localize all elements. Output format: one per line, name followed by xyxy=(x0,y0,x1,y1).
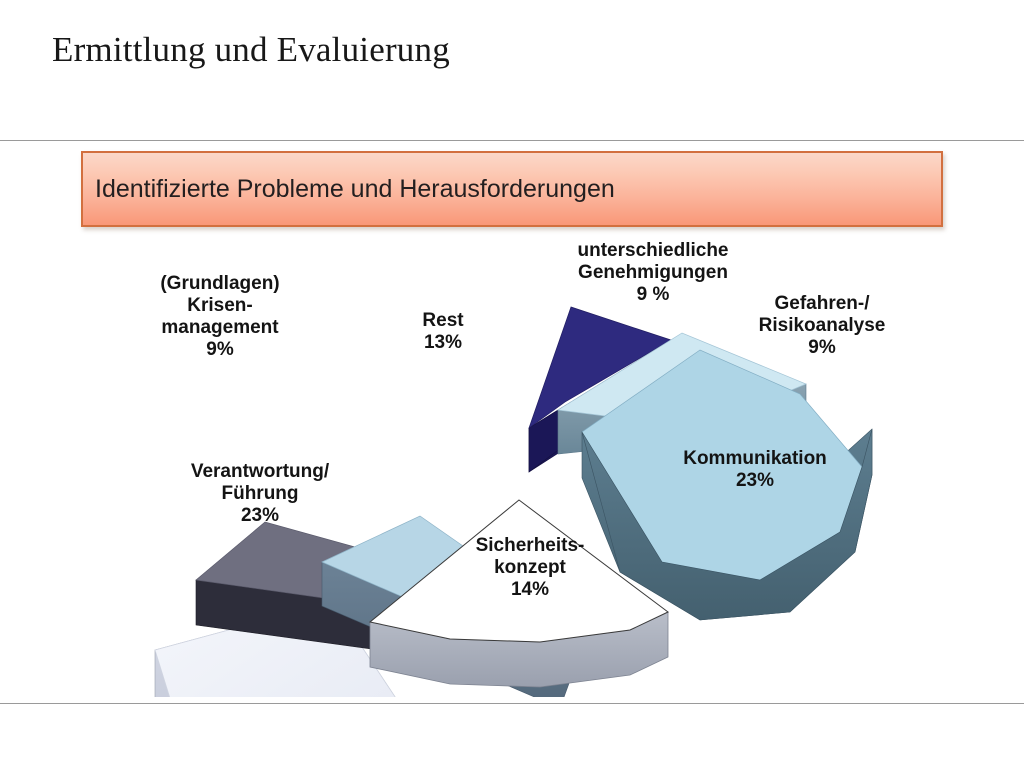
header-divider xyxy=(0,140,1024,141)
page-title: Ermittlung und Evaluierung xyxy=(52,30,450,70)
pie-chart xyxy=(0,232,1024,697)
section-banner-label: Identifizierte Probleme und Herausforder… xyxy=(95,175,615,204)
pie-chart-svg xyxy=(0,232,1024,697)
footer: Bundesamt für Bevölkerungsschutz und Kat… xyxy=(0,703,1024,771)
slide-canvas: Ermittlung und Evaluierung Identifiziert… xyxy=(0,0,1024,771)
section-banner: Identifizierte Probleme und Herausforder… xyxy=(81,151,943,227)
